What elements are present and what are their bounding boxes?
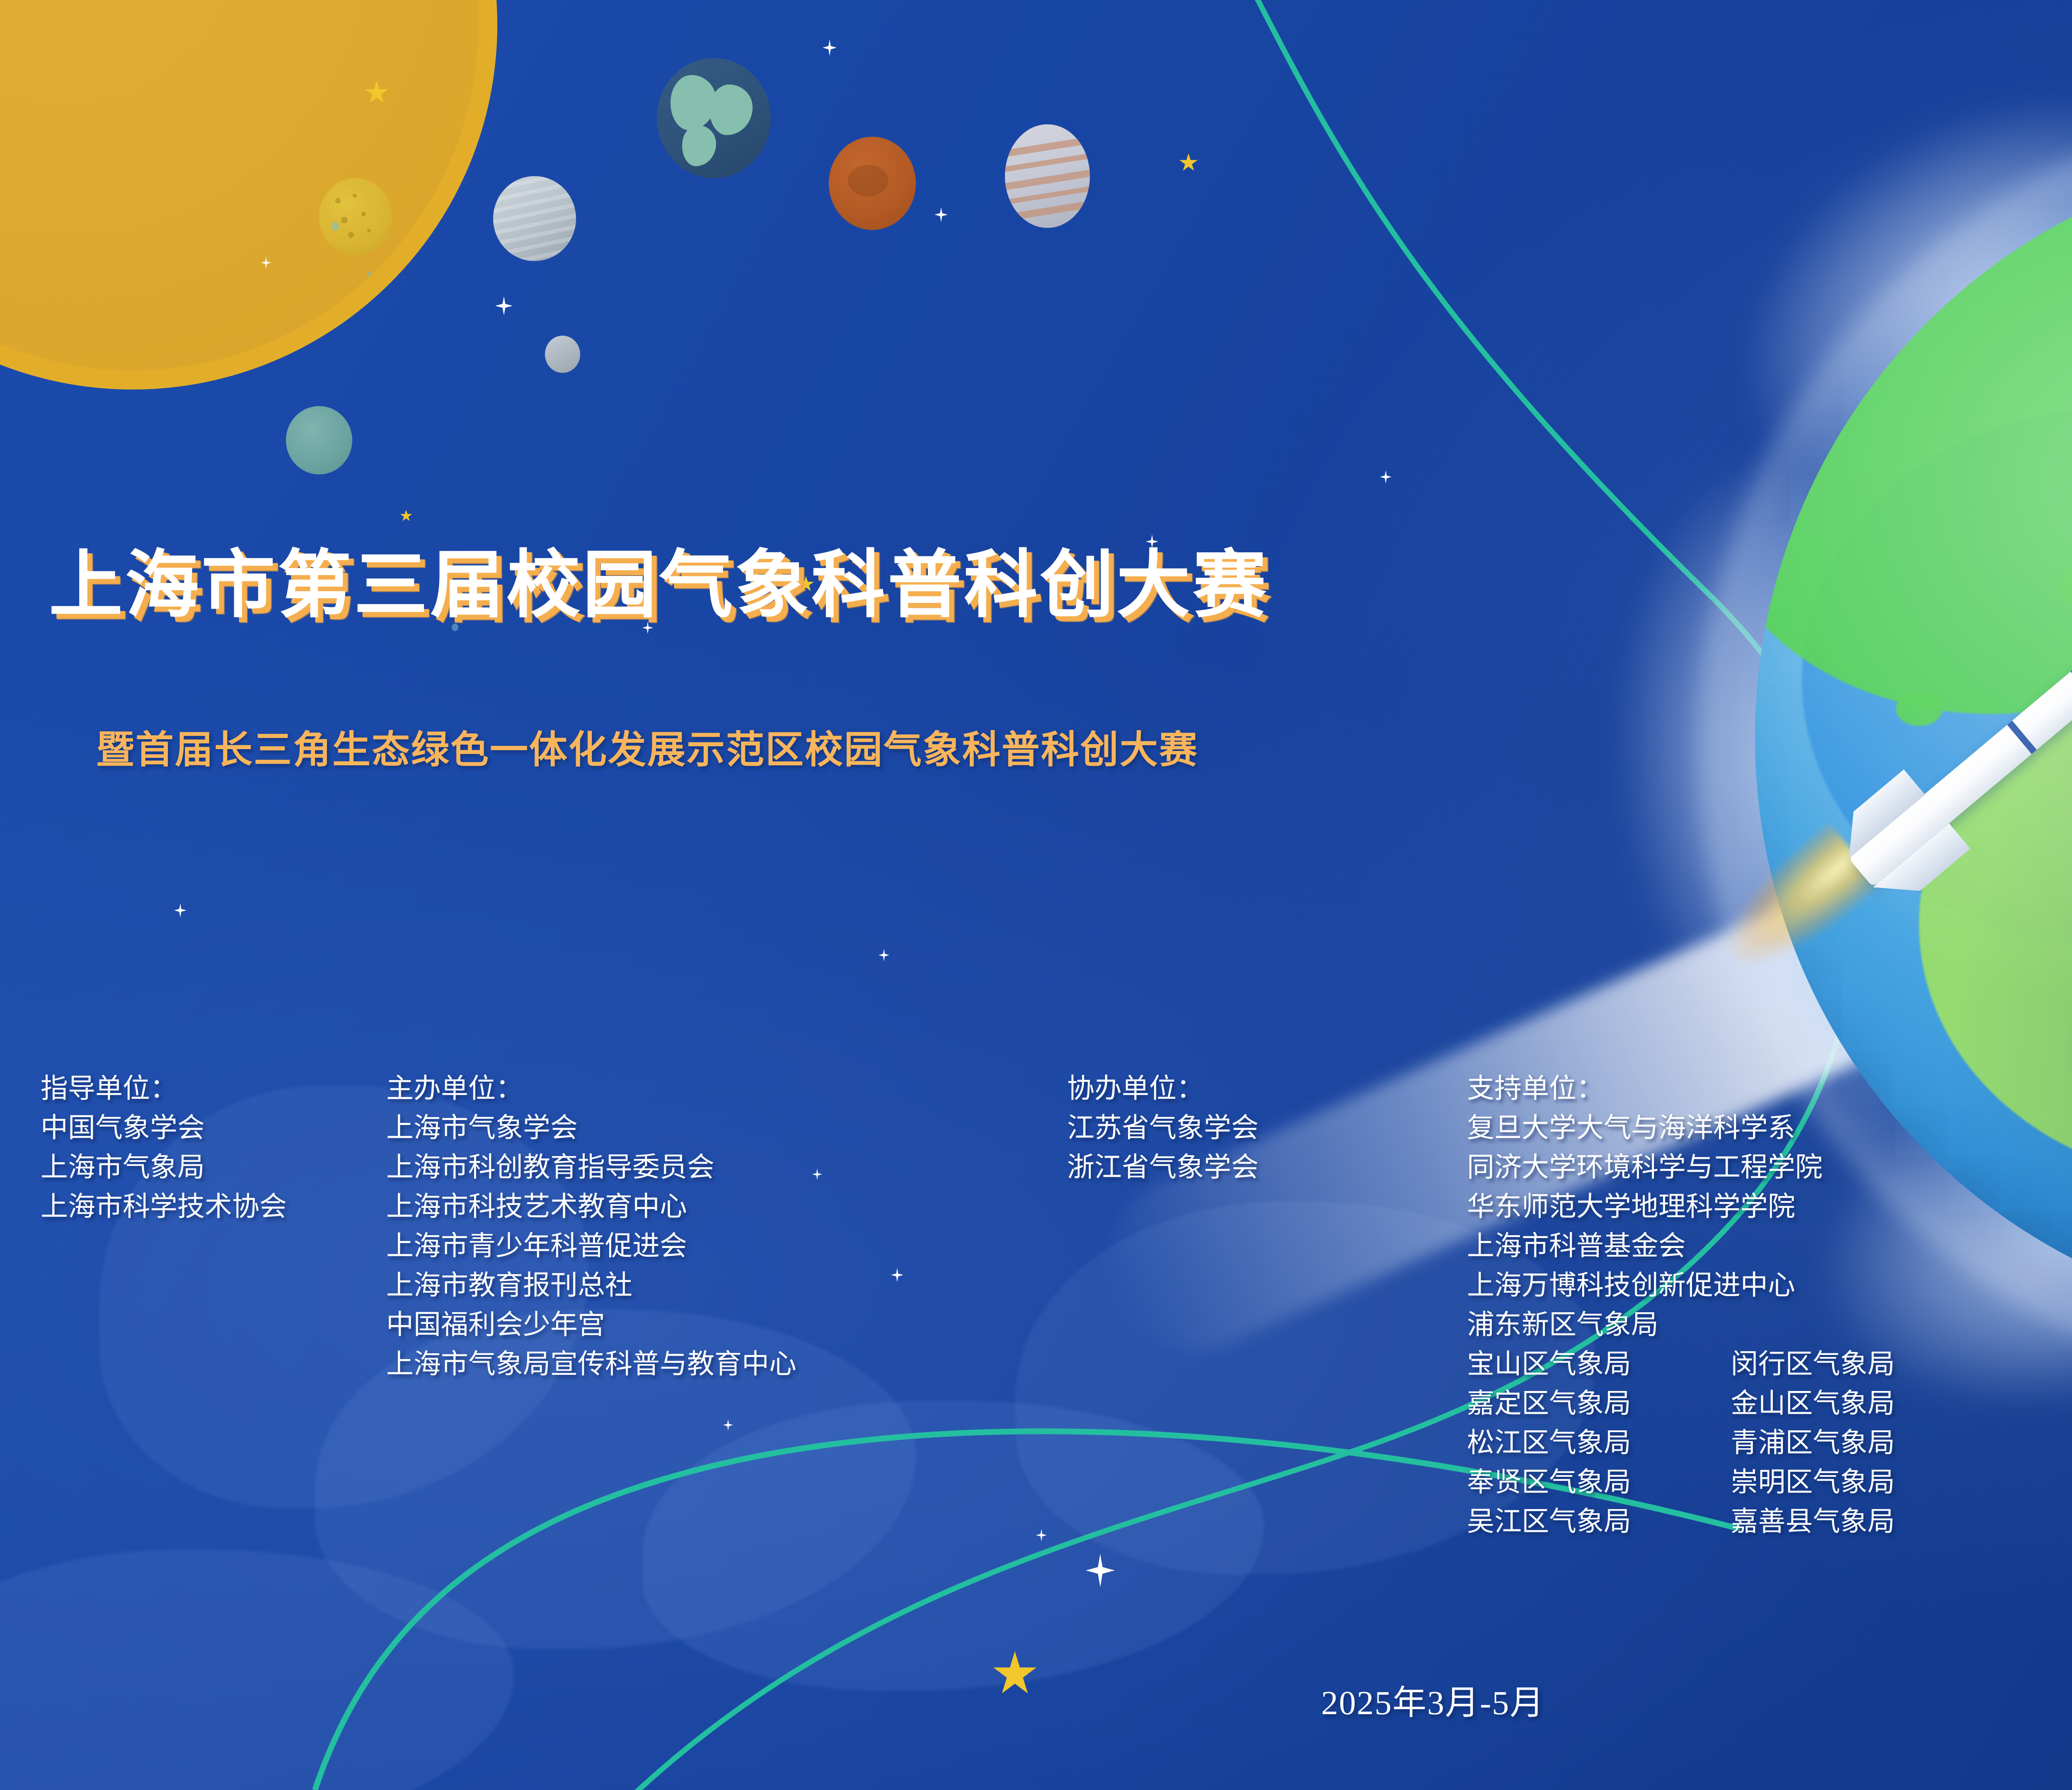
space-dot	[332, 222, 339, 231]
credits-item: 闵行区气象局	[1731, 1349, 1895, 1379]
credits-item: 中国气象学会	[41, 1108, 287, 1148]
credits-item: 浙江省气象学会	[1067, 1148, 1259, 1187]
credits-item: 上海市青少年科普促进会	[386, 1226, 796, 1266]
credits-bureau-row: 奉贤区气象局 崇明区气象局	[1467, 1463, 1895, 1502]
credits-bureau-row: 嘉定区气象局 金山区气象局	[1467, 1384, 1895, 1423]
credits-column-coorganizer: 协办单位： 江苏省气象学会 浙江省气象学会	[1067, 1069, 1259, 1187]
credits-item: 崇明区气象局	[1731, 1467, 1895, 1497]
credits-item: 金山区气象局	[1731, 1388, 1895, 1419]
credits-item: 上海市气象局	[41, 1148, 287, 1187]
credits-item: 复旦大学大气与海洋科学系	[1467, 1108, 1895, 1148]
credits-block: 指导单位： 中国气象学会 上海市气象局 上海市科学技术协会 主办单位： 上海市气…	[0, 1069, 2072, 1691]
credits-header-support: 支持单位：	[1467, 1069, 1895, 1108]
rocket-body	[1848, 592, 2072, 887]
credits-item: 上海万博科技创新促进中心	[1467, 1266, 1895, 1305]
rocket-fin	[1873, 823, 1970, 913]
page-title: 上海市第三届校园气象科普科创大赛	[49, 525, 1269, 632]
page-subtitle: 暨首届长三角生态绿色一体化发展示范区校园气象科普科创大赛	[96, 719, 1198, 774]
credits-item: 上海市教育报刊总社	[386, 1266, 796, 1305]
earth-planet	[657, 58, 771, 178]
credits-header-coorganizer: 协办单位：	[1067, 1069, 1259, 1108]
credits-item: 嘉定区气象局	[1467, 1384, 1724, 1423]
credits-item: 上海市气象学会	[386, 1108, 796, 1148]
mars-planet	[829, 137, 916, 230]
credits-item: 中国福利会少年宫	[386, 1305, 796, 1345]
credits-item: 华东师范大学地理科学学院	[1467, 1187, 1895, 1226]
credits-item: 同济大学环境科学与工程学院	[1467, 1148, 1895, 1187]
credits-column-support: 支持单位： 复旦大学大气与海洋科学系 同济大学环境科学与工程学院 华东师范大学地…	[1467, 1069, 1895, 1541]
credits-bureau-row: 松江区气象局 青浦区气象局	[1467, 1423, 1895, 1463]
credits-bureau-row: 吴江区气象局 嘉善县气象局	[1467, 1502, 1895, 1541]
jupiter-planet	[1005, 124, 1090, 228]
teal-planet	[286, 406, 352, 474]
credits-column-guidance: 指导单位： 中国气象学会 上海市气象局 上海市科学技术协会	[41, 1069, 287, 1226]
gray-planet	[493, 176, 576, 261]
credits-item: 吴江区气象局	[1467, 1502, 1724, 1541]
credits-item: 江苏省气象学会	[1067, 1108, 1259, 1148]
space-dot	[367, 271, 371, 276]
credits-item: 青浦区气象局	[1731, 1428, 1895, 1458]
credits-item: 上海市气象局宣传科普与教育中心	[386, 1345, 796, 1384]
moon-planet	[319, 178, 392, 255]
credits-item: 浦东新区气象局	[1467, 1305, 1895, 1345]
credits-item: 上海市科创教育指导委员会	[386, 1148, 796, 1187]
poster-canvas: 上海市第三届校园气象科普科创大赛 暨首届长三角生态绿色一体化发展示范区校园气象科…	[0, 0, 2072, 1790]
event-date: 2025年3月-5月	[1321, 1675, 1544, 1724]
small-gray-planet	[545, 336, 580, 373]
credits-item: 奉贤区气象局	[1467, 1463, 1724, 1502]
credits-item: 松江区气象局	[1467, 1423, 1724, 1463]
credits-item: 嘉善县气象局	[1731, 1507, 1895, 1537]
credits-item: 上海市科学技术协会	[41, 1187, 287, 1226]
credits-item: 宝山区气象局	[1467, 1345, 1724, 1384]
credits-bureau-row: 宝山区气象局 闵行区气象局	[1467, 1345, 1895, 1384]
credits-item: 上海市科普基金会	[1467, 1226, 1895, 1266]
credits-header-guidance: 指导单位：	[41, 1069, 287, 1108]
credits-header-host: 主办单位：	[386, 1069, 796, 1108]
credits-item: 上海市科技艺术教育中心	[386, 1187, 796, 1226]
credits-column-host: 主办单位： 上海市气象学会 上海市科创教育指导委员会 上海市科技艺术教育中心 上…	[386, 1069, 796, 1384]
